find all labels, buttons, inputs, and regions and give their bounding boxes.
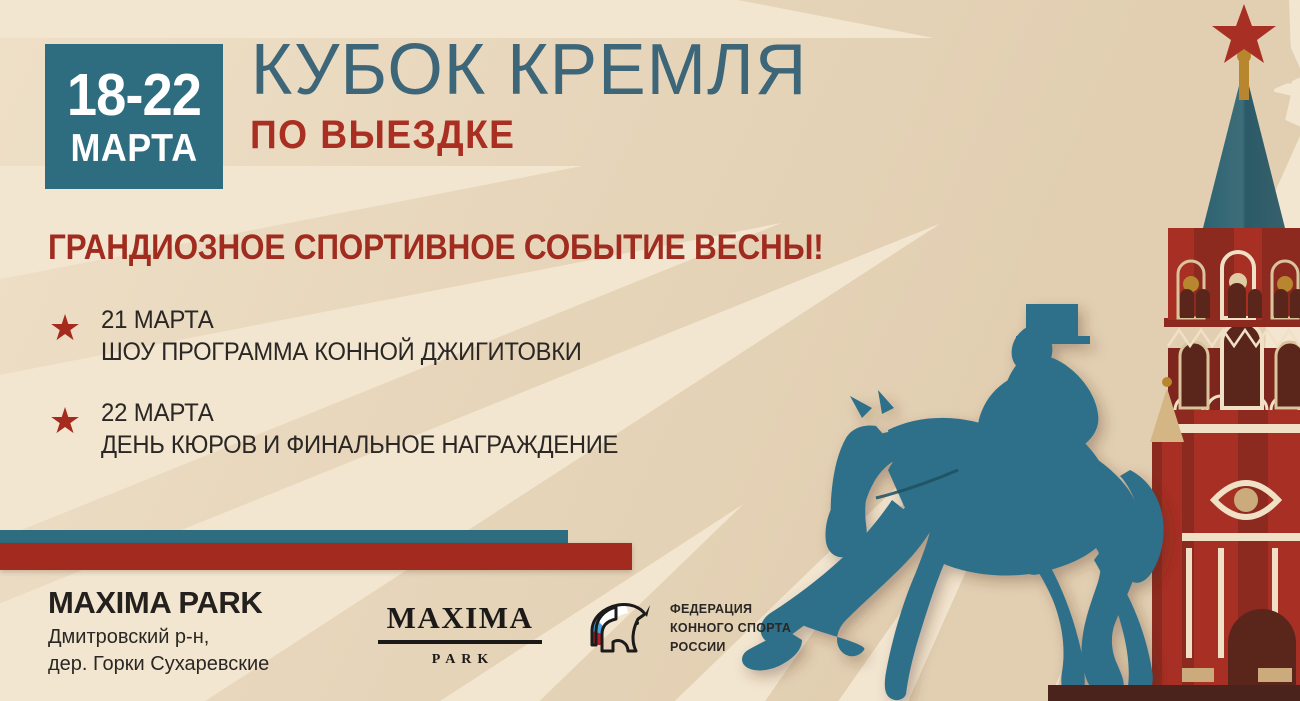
venue-block: MAXIMA PARK Дмитровский р-н, дер. Горки …: [48, 586, 269, 678]
date-range: 18-22: [67, 67, 201, 124]
program-list: ★ 21 МАРТА ШОУ ПРОГРАММА КОННОЙ ДЖИГИТОВ…: [48, 306, 748, 492]
maxima-logo-word: MAXIMA: [378, 602, 542, 633]
maxima-logo-rule: [378, 640, 542, 644]
program-description: ШОУ ПРОГРАММА КОННОЙ ДЖИГИТОВКИ: [101, 336, 716, 369]
program-date: 21 МАРТА: [101, 306, 722, 336]
venue-name: MAXIMA PARK: [48, 586, 269, 620]
program-date: 22 МАРТА: [101, 399, 722, 429]
list-item: ★ 22 МАРТА ДЕНЬ КЮРОВ И ФИНАЛЬНОЕ НАГРАЖ…: [48, 399, 748, 461]
tagline: ГРАНДИОЗНОЕ СПОРТИВНОЕ СОБЫТИЕ ВЕСНЫ!: [48, 230, 824, 265]
divider-bar-red: [0, 543, 632, 570]
page-title: КУБОК КРЕМЛЯ: [251, 34, 807, 106]
list-item: ★ 21 МАРТА ШОУ ПРОГРАММА КОННОЙ ДЖИГИТОВ…: [48, 306, 748, 368]
maxima-logo-sub: PARK: [378, 653, 542, 667]
horse-head-icon: [588, 601, 658, 657]
star-icon: ★: [48, 405, 82, 439]
federation-line-2: КОННОГО СПОРТА: [670, 619, 791, 638]
poster: 18-22 МАРТА КУБОК КРЕМЛЯ ПО ВЫЕЗДКЕ ГРАН…: [0, 0, 1300, 701]
federation-logo-text: ФЕДЕРАЦИЯ КОННОГО СПОРТА РОССИИ: [670, 600, 791, 657]
date-month: МАРТА: [70, 129, 197, 170]
venue-address: Дмитровский р-н, дер. Горки Сухаревские: [48, 624, 269, 678]
venue-address-line1: Дмитровский р-н,: [48, 624, 269, 651]
federation-logo: ФЕДЕРАЦИЯ КОННОГО СПОРТА РОССИИ: [588, 600, 791, 657]
program-description: ДЕНЬ КЮРОВ И ФИНАЛЬНОЕ НАГРАЖДЕНИЕ: [101, 429, 716, 462]
star-icon: ★: [48, 312, 82, 346]
federation-line-1: ФЕДЕРАЦИЯ: [670, 600, 791, 619]
page-subtitle: ПО ВЫЕЗДКЕ: [250, 115, 515, 155]
federation-line-3: РОССИИ: [670, 638, 791, 657]
maxima-park-logo: MAXIMA PARK: [378, 602, 542, 667]
date-badge: 18-22 МАРТА: [45, 44, 223, 189]
venue-address-line2: дер. Горки Сухаревские: [48, 651, 269, 678]
